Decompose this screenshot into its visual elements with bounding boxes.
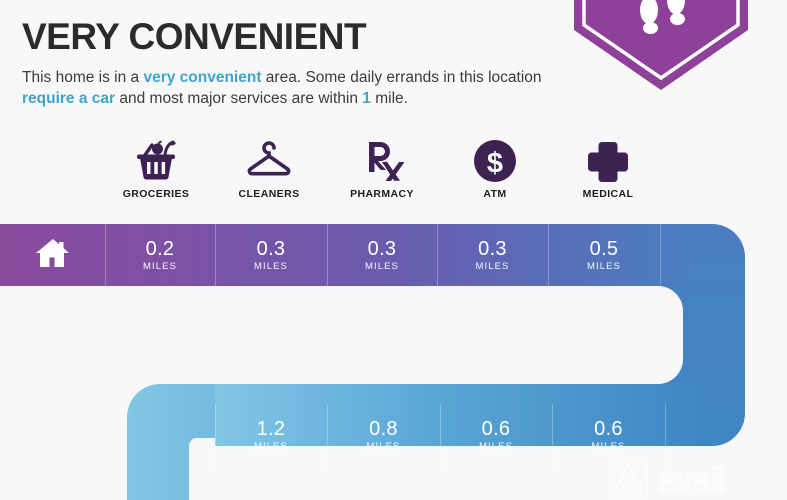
- dollar-coin-icon: $: [472, 138, 518, 184]
- highlighted-phrase: require a car: [22, 90, 115, 107]
- amenity-label: MEDICAL: [583, 188, 634, 200]
- amenity-medical[interactable]: MEDICAL: [552, 138, 664, 208]
- amenity-cleaners[interactable]: CLEANERS: [213, 138, 325, 208]
- cell-divider: [327, 404, 328, 466]
- distance-value: 0.5: [590, 239, 619, 260]
- distance-unit: MILES: [366, 441, 400, 452]
- cell-divider: [437, 224, 438, 286]
- walk-score-shield-badge: [566, 0, 756, 96]
- highlighted-phrase: 1: [362, 90, 371, 107]
- clothes-hanger-icon: [244, 138, 294, 184]
- distance-unit: MILES: [475, 261, 509, 272]
- description-text: area. Some daily errands in this locatio…: [262, 69, 542, 86]
- distance-cell-cleaners[interactable]: 0.3 MILES: [215, 224, 327, 286]
- medical-cross-icon: [586, 138, 630, 184]
- top-distance-cells: 0.2 MILES 0.3 MILES 0.3 MILES 0.3 MILES …: [0, 224, 660, 286]
- avail-watermark: avail: [610, 458, 780, 500]
- distance-value: 0.3: [257, 239, 286, 260]
- amenity-pharmacy[interactable]: PHARMACY: [326, 138, 438, 208]
- amenity-groceries[interactable]: GROCERIES: [100, 138, 212, 208]
- home-icon: [36, 237, 70, 274]
- cell-divider: [548, 224, 549, 286]
- infographic-canvas: VERY CONVENIENT This home is in a very c…: [0, 0, 787, 500]
- distance-unit: MILES: [591, 441, 625, 452]
- distance-value: 0.6: [482, 419, 511, 440]
- distance-cell-coffee[interactable]: 0.6 MILES: [552, 404, 665, 466]
- cell-divider: [327, 224, 328, 286]
- prescription-rx-icon: [360, 138, 404, 184]
- amenity-atm[interactable]: $ ATM: [439, 138, 551, 208]
- summary-description: This home is in a very convenient area. …: [22, 68, 567, 109]
- description-text: This home is in a: [22, 69, 143, 86]
- page-title: VERY CONVENIENT: [22, 18, 366, 55]
- distance-value: 0.3: [368, 239, 397, 260]
- distance-unit: MILES: [587, 261, 621, 272]
- distance-value: 0.8: [369, 419, 398, 440]
- distance-unit: MILES: [143, 261, 177, 272]
- amenity-label: ATM: [483, 188, 506, 200]
- home-marker-cell: [0, 224, 105, 286]
- cell-divider: [552, 404, 553, 466]
- cell-divider: [660, 224, 661, 286]
- bottom-distance-cells: 1.2 MILES 0.8 MILES 0.6 MILES 0.6 MILES: [215, 404, 685, 466]
- distance-cell-pharmacy[interactable]: 0.3 MILES: [327, 224, 437, 286]
- amenity-label: PHARMACY: [350, 188, 414, 200]
- distance-unit: MILES: [365, 261, 399, 272]
- cell-divider: [440, 404, 441, 466]
- distance-unit: MILES: [254, 261, 288, 272]
- distance-cell-movie-theater[interactable]: 1.2 MILES: [215, 404, 327, 466]
- highlighted-phrase: very convenient: [143, 69, 261, 86]
- cell-divider: [215, 404, 216, 466]
- distance-cell-atm[interactable]: 0.3 MILES: [437, 224, 548, 286]
- cell-divider: [215, 224, 216, 286]
- distance-unit: MILES: [254, 441, 288, 452]
- description-text: mile.: [371, 90, 408, 107]
- distance-value: 1.2: [257, 419, 286, 440]
- cell-divider: [665, 404, 666, 466]
- distance-value: 0.6: [594, 419, 623, 440]
- distance-value: 0.3: [478, 239, 507, 260]
- groceries-basket-icon: [132, 138, 180, 184]
- svg-text:$: $: [487, 148, 503, 180]
- distance-value: 0.2: [146, 239, 175, 260]
- distance-cell-gas[interactable]: 0.8 MILES: [327, 404, 440, 466]
- distance-cell-groceries[interactable]: 0.2 MILES: [105, 224, 215, 286]
- distance-cell-gym[interactable]: 0.6 MILES: [440, 404, 552, 466]
- watermark-text: avail: [658, 461, 726, 498]
- cell-divider: [105, 224, 106, 286]
- top-amenity-icon-row: GROCERIES CLEANERS PHARMA: [0, 138, 787, 208]
- amenity-label: CLEANERS: [239, 188, 300, 200]
- description-text: and most major services are within: [115, 90, 362, 107]
- distance-cell-medical[interactable]: 0.5 MILES: [548, 224, 660, 286]
- distance-unit: MILES: [479, 441, 513, 452]
- amenity-label: GROCERIES: [123, 188, 190, 200]
